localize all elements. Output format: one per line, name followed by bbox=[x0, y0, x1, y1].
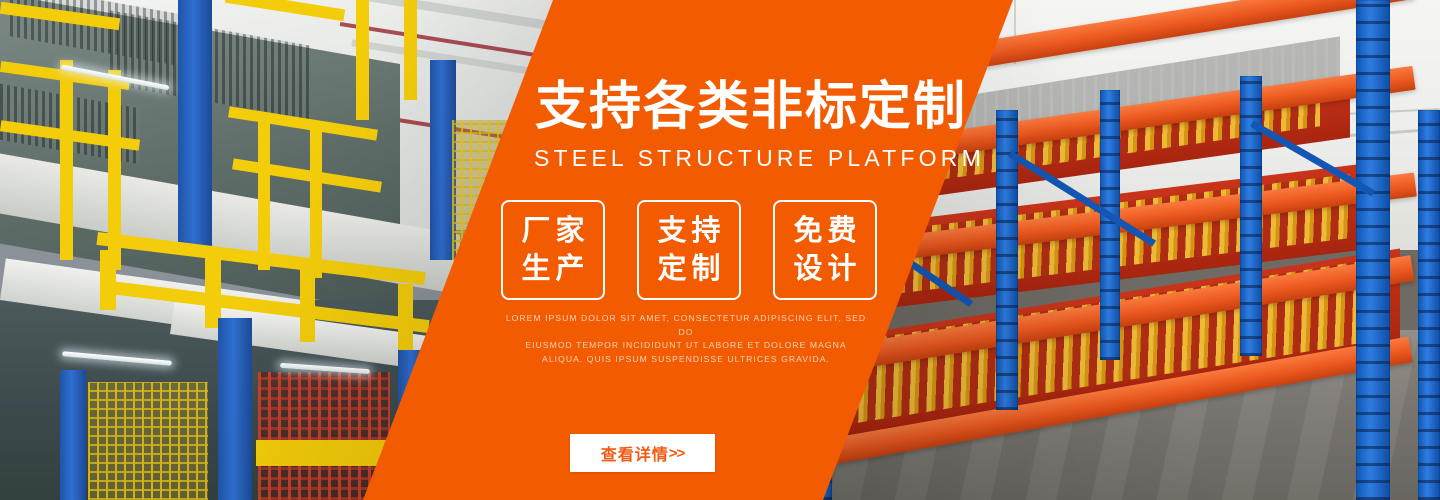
description-line-1: LOREM IPSUM DOLOR SIT AMET, CONSECTETUR … bbox=[505, 312, 867, 339]
subtitle: STEEL STRUCTURE PLATFORM bbox=[534, 145, 964, 171]
description-line-2: EIUSMOD TEMPOR INCIDIDUNT UT LABORE ET D… bbox=[505, 339, 867, 353]
badge-line-2: 设计 bbox=[788, 250, 861, 288]
feature-badge-customization[interactable]: 支持 定制 bbox=[637, 200, 741, 300]
feature-badge-free-design[interactable]: 免费 设计 bbox=[773, 200, 877, 300]
badge-line-2: 生产 bbox=[516, 250, 589, 288]
feature-badge-group: 厂家 生产 支持 定制 免费 设计 bbox=[501, 200, 877, 300]
view-details-button[interactable]: 查看详情 >> bbox=[570, 434, 715, 472]
cta-label: 查看详情 bbox=[601, 441, 669, 465]
description-text: LOREM IPSUM DOLOR SIT AMET, CONSECTETUR … bbox=[505, 312, 867, 366]
badge-line-1: 支持 bbox=[652, 212, 725, 250]
promo-banner: 支持各类非标定制 STEEL STRUCTURE PLATFORM 厂家 生产 … bbox=[0, 0, 1440, 500]
feature-badge-manufacturer[interactable]: 厂家 生产 bbox=[501, 200, 605, 300]
page-title: 支持各类非标定制 bbox=[535, 78, 965, 136]
badge-line-1: 厂家 bbox=[516, 212, 589, 250]
badge-line-2: 定制 bbox=[652, 250, 725, 288]
banner-content: 支持各类非标定制 STEEL STRUCTURE PLATFORM 厂家 生产 … bbox=[0, 0, 1440, 500]
double-chevron-right-icon: >> bbox=[669, 445, 685, 462]
badge-line-1: 免费 bbox=[788, 212, 861, 250]
description-line-3: ALIQUA. QUIS IPSUM SUSPENDISSE ULTRICES … bbox=[505, 353, 867, 367]
